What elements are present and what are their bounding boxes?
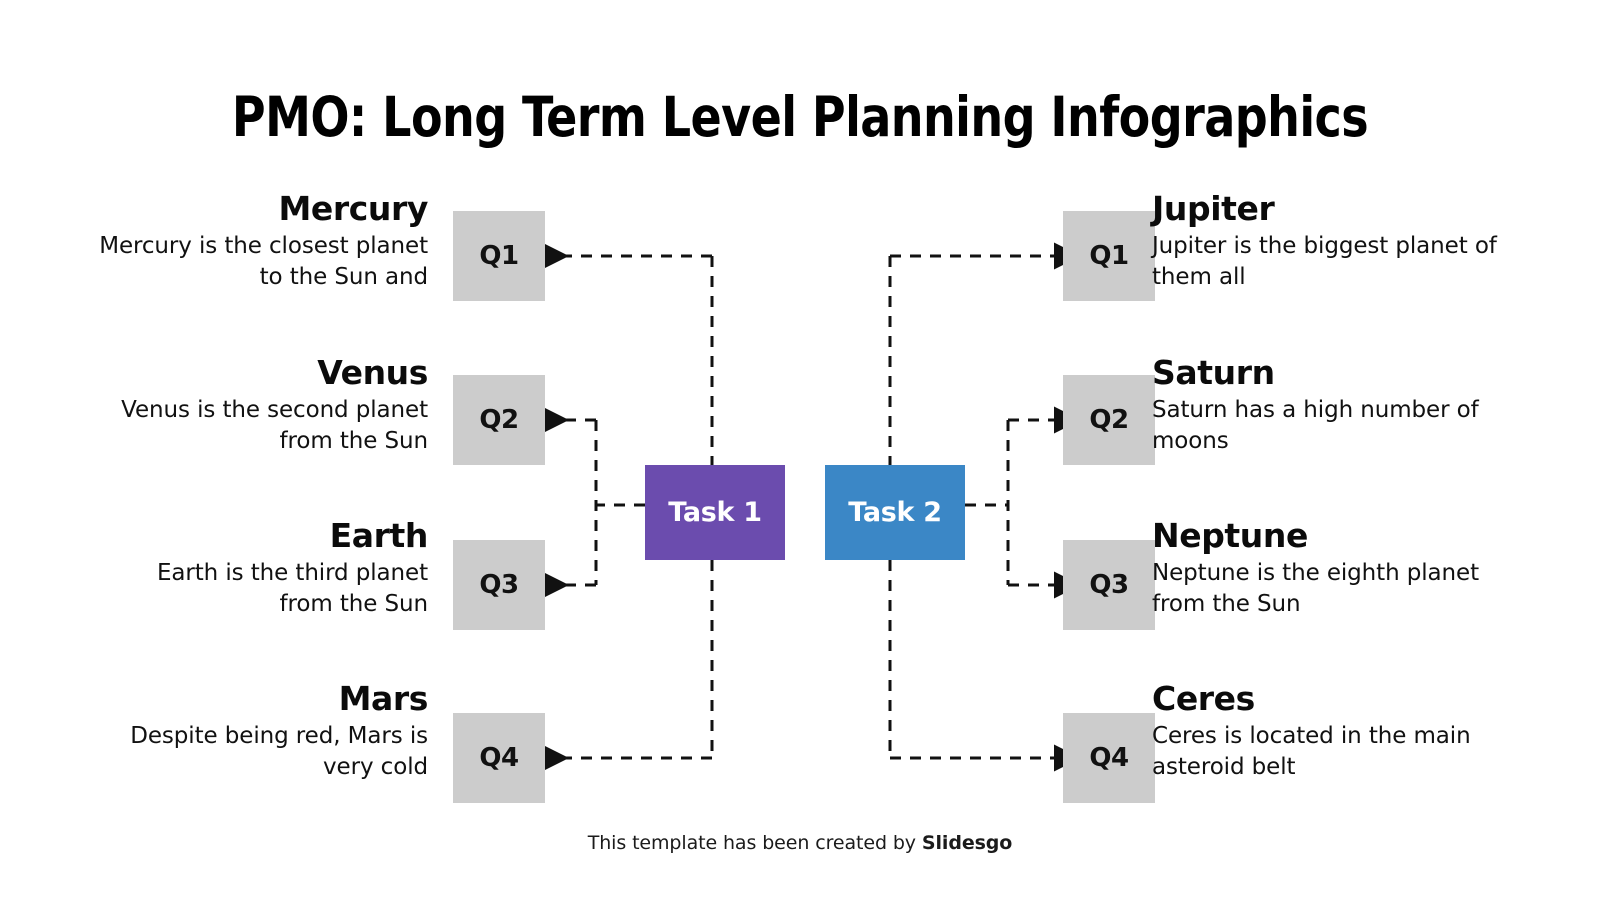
info-block-mars: Mars Despite being red, Mars is very col… [98,682,428,783]
info-block-mercury: Mercury Mercury is the closest planet to… [98,192,428,293]
info-block-ceres: Ceres Ceres is located in the main aster… [1152,682,1512,783]
info-heading: Neptune [1152,519,1512,554]
info-block-earth: Earth Earth is the third planet from the… [98,519,428,620]
quarter-box-right-q3[interactable]: Q3 [1063,540,1155,630]
footer-brand: Slidesgo [922,832,1012,854]
info-body: Earth is the third planet from the Sun [98,558,428,620]
info-block-jupiter: Jupiter Jupiter is the biggest planet of… [1152,192,1512,293]
info-heading: Jupiter [1152,192,1512,227]
quarter-box-right-q2[interactable]: Q2 [1063,375,1155,465]
info-block-venus: Venus Venus is the second planet from th… [98,356,428,457]
quarter-label: Q1 [479,241,518,271]
slide-canvas: PMO: Long Term Level Planning Infographi… [0,0,1600,900]
info-heading: Mars [98,682,428,717]
quarter-box-right-q1[interactable]: Q1 [1063,211,1155,301]
task-box-1[interactable]: Task 1 [645,465,785,560]
task-label: Task 1 [668,497,762,528]
quarter-box-left-q4[interactable]: Q4 [453,713,545,803]
info-body: Jupiter is the biggest planet of them al… [1152,231,1512,293]
quarter-box-left-q1[interactable]: Q1 [453,211,545,301]
quarter-box-left-q3[interactable]: Q3 [453,540,545,630]
info-body: Despite being red, Mars is very cold [98,721,428,783]
info-body: Mercury is the closest planet to the Sun… [98,231,428,293]
quarter-label: Q4 [1089,743,1128,773]
quarter-label: Q4 [479,743,518,773]
quarter-label: Q1 [1089,241,1128,271]
info-body: Neptune is the eighth planet from the Su… [1152,558,1512,620]
footer-credit: This template has been created by Slides… [0,832,1600,854]
quarter-label: Q3 [479,570,518,600]
quarter-box-right-q4[interactable]: Q4 [1063,713,1155,803]
task-box-2[interactable]: Task 2 [825,465,965,560]
info-block-neptune: Neptune Neptune is the eighth planet fro… [1152,519,1512,620]
task-label: Task 2 [848,497,942,528]
footer-prefix: This template has been created by [588,832,922,854]
quarter-box-left-q2[interactable]: Q2 [453,375,545,465]
info-body: Venus is the second planet from the Sun [98,395,428,457]
info-block-saturn: Saturn Saturn has a high number of moons [1152,356,1512,457]
info-heading: Earth [98,519,428,554]
quarter-label: Q3 [1089,570,1128,600]
quarter-label: Q2 [1089,405,1128,435]
info-body: Ceres is located in the main asteroid be… [1152,721,1512,783]
info-heading: Ceres [1152,682,1512,717]
info-heading: Saturn [1152,356,1512,391]
info-body: Saturn has a high number of moons [1152,395,1512,457]
info-heading: Mercury [98,192,428,227]
info-heading: Venus [98,356,428,391]
quarter-label: Q2 [479,405,518,435]
